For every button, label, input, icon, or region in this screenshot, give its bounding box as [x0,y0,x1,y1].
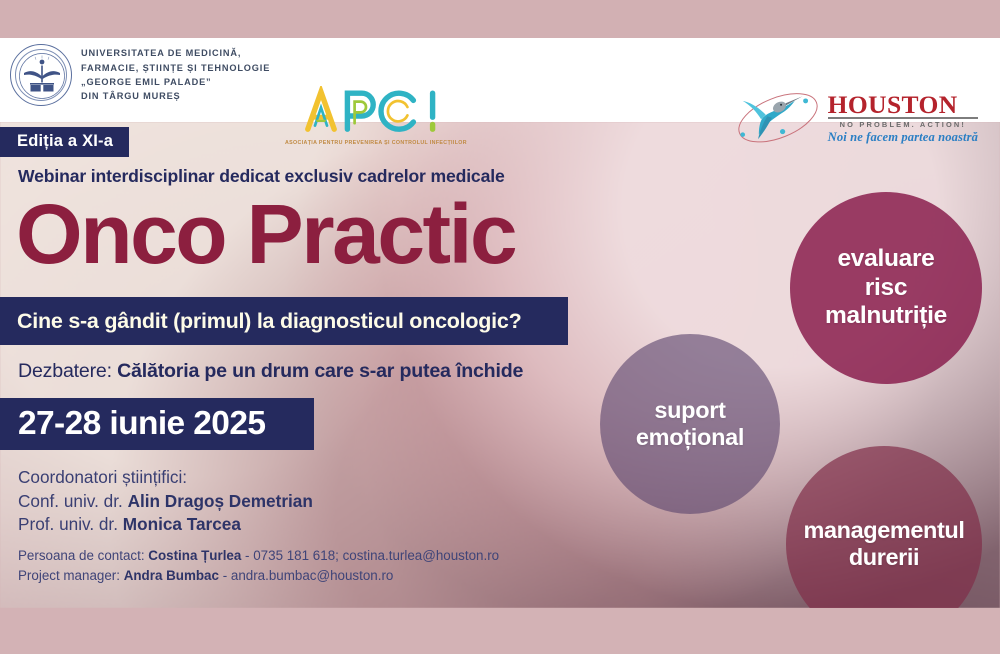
frame-band-bottom [0,608,1000,654]
contact-2-role: Project manager: [18,568,120,583]
coordinator-2-name: Monica Tarcea [123,514,241,534]
topic-line: malnutriție [825,302,947,331]
topic-line: evaluare [825,245,947,274]
contact-1-detail: - 0735 181 618; costina.turlea@houston.r… [245,548,499,563]
topic-line: emoțional [636,424,744,451]
contact-2-detail: - andra.bumbac@houston.ro [223,568,394,583]
contact-2-name: Andra Bumbac [124,568,219,583]
university-seal-icon [10,44,72,106]
question-banner: Cine s-a gândit (primul) la diagnosticul… [0,297,568,345]
coordinator-1-title: Conf. univ. dr. [18,491,123,511]
umf-logo-text: UNIVERSITATEA DE MEDICINĂ, FARMACIE, ȘTI… [81,46,270,103]
houston-logo: HOUSTON NO PROBLEM. ACTION! Noi ne facem… [732,84,978,150]
topic-line: durerii [803,544,964,571]
contacts-block: Persoana de contact: Costina Țurlea - 07… [18,546,499,585]
debate-label: Dezbatere: [18,360,112,382]
topic-line: managementul [803,517,964,544]
contact-1-name: Costina Țurlea [148,548,241,563]
coordinator-2-title: Prof. univ. dr. [18,514,118,534]
apci-logo: ASOCIAȚIA PENTRU PREVENIREA ȘI CONTROLUL… [285,86,465,146]
hummingbird-icon [732,84,824,150]
contact-row: Persoana de contact: Costina Țurlea - 07… [18,546,499,566]
contact-1-role: Persoana de contact: [18,548,145,563]
coordinators-block: Coordonatori științifici: Conf. univ. dr… [18,466,313,537]
houston-wordmark: HOUSTON NO PROBLEM. ACTION! Noi ne facem… [828,89,978,145]
coordinator-1-name: Alin Dragoș Demetrian [128,491,313,511]
event-subtitle: Webinar interdisciplinar dedicat exclusi… [18,166,505,187]
question-text: Cine s-a gândit (primul) la diagnosticul… [0,309,521,334]
frame-band-top [0,0,1000,38]
topic-line: suport [636,397,744,424]
umf-line-2: FARMACIE, ȘTIINȚE ȘI TEHNOLOGIE [81,61,270,75]
umf-line-4: DIN TÂRGU MUREȘ [81,89,270,103]
debate-title: Călătoria pe un drum care s-ar putea înc… [117,360,523,382]
event-date: 27-28 iunie 2025 [0,405,265,443]
coordinator-row: Prof. univ. dr. Monica Tarcea [18,513,313,537]
poster-root: UNIVERSITATEA DE MEDICINĂ, FARMACIE, ȘTI… [0,0,1000,654]
houston-tagline: NO PROBLEM. ACTION! [828,120,978,129]
contact-row: Project manager: Andra Bumbac - andra.bu… [18,566,499,586]
apci-wordmark-icon [285,86,465,134]
coordinator-row: Conf. univ. dr. Alin Dragoș Demetrian [18,490,313,514]
apci-subtitle: ASOCIAȚIA PENTRU PREVENIREA ȘI CONTROLUL… [285,140,465,146]
topic-circle-suport-emotional: suport emoțional [600,334,780,514]
umf-logo: UNIVERSITATEA DE MEDICINĂ, FARMACIE, ȘTI… [10,44,270,106]
umf-line-1: UNIVERSITATEA DE MEDICINĂ, [81,46,270,60]
debate-line: Dezbatere: Călătoria pe un drum care s-a… [18,360,523,383]
edition-badge: Ediția a XI-a [0,127,129,157]
topic-line: risc [825,274,947,303]
topic-circle-evaluare-risc-malnutritie: evaluare risc malnutriție [790,192,982,384]
coordinators-heading: Coordonatori științifici: [18,466,313,490]
date-banner: 27-28 iunie 2025 [0,398,314,450]
logo-bar: UNIVERSITATEA DE MEDICINĂ, FARMACIE, ȘTI… [0,38,1000,122]
houston-slogan: Noi ne facem partea noastră [828,130,978,145]
umf-line-3: „GEORGE EMIL PALADE” [81,75,270,89]
houston-name: HOUSTON [828,92,978,117]
event-title: Onco Practic [16,186,515,282]
